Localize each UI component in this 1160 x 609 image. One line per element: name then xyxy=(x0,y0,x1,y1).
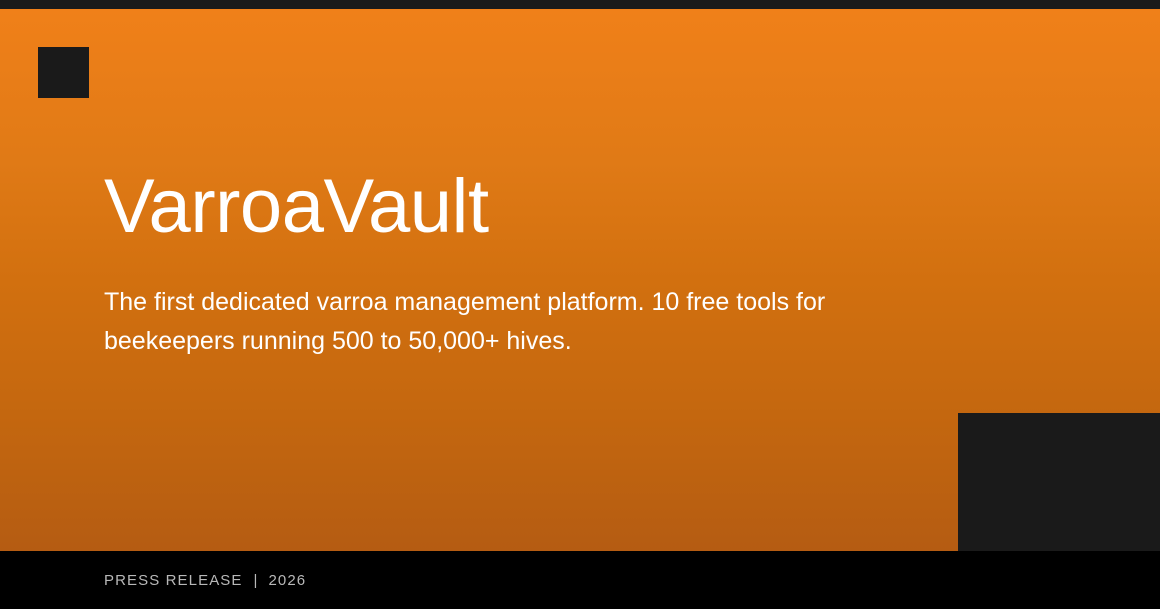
presentation-slide: VarroaVault The first dedicated varroa m… xyxy=(0,0,1160,609)
slide-content: VarroaVault The first dedicated varroa m… xyxy=(104,169,964,361)
page-title: VarroaVault xyxy=(104,169,964,245)
footer-year: 2026 xyxy=(268,572,306,589)
footer-meta: PRESS RELEASE | 2026 xyxy=(104,551,306,609)
logo-square-mark xyxy=(38,47,89,98)
footer-band: PRESS RELEASE | 2026 xyxy=(0,551,1160,609)
top-accent-bar xyxy=(0,0,1160,9)
slide-background-gradient: VarroaVault The first dedicated varroa m… xyxy=(0,9,1160,551)
decorative-corner-block xyxy=(958,413,1160,560)
slide-subtitle: The first dedicated varroa management pl… xyxy=(104,245,914,361)
footer-label: PRESS RELEASE xyxy=(104,572,243,589)
footer-separator: | xyxy=(243,572,269,589)
